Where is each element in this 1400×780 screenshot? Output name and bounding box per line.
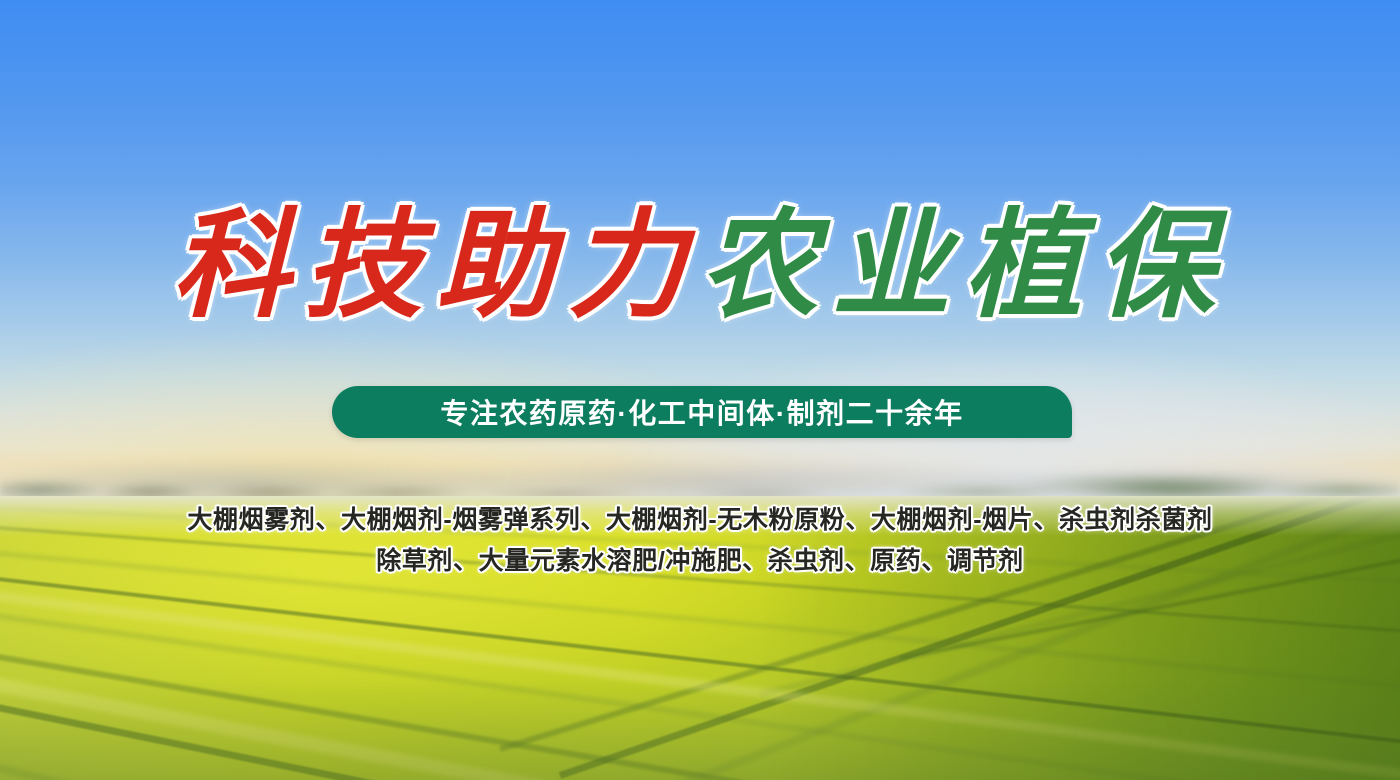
product-line-2: 除草剂、大量元素水溶肥/冲施肥、杀虫剂、原药、调节剂 [0, 541, 1400, 582]
field-bottom-vignette [0, 680, 1400, 780]
headline-red-text: 科技助力 [172, 206, 700, 324]
subtitle-pill: 专注农药原药·化工中间体·制剂二十余年 [332, 386, 1072, 438]
subtitle-text: 专注农药原药·化工中间体·制剂二十余年 [440, 392, 963, 432]
product-line-1: 大棚烟雾剂、大棚烟剂-烟雾弹系列、大棚烟剂-无木粉原粉、大棚烟剂-烟片、杀虫剂杀… [0, 500, 1400, 541]
headline: 科技助力农业植保 [0, 206, 1400, 324]
promo-banner: 科技助力农业植保 专注农药原药·化工中间体·制剂二十余年 大棚烟雾剂、大棚烟剂-… [0, 0, 1400, 780]
headline-green-text: 农业植保 [700, 206, 1228, 324]
product-list: 大棚烟雾剂、大棚烟剂-烟雾弹系列、大棚烟剂-无木粉原粉、大棚烟剂-烟片、杀虫剂杀… [0, 500, 1400, 582]
